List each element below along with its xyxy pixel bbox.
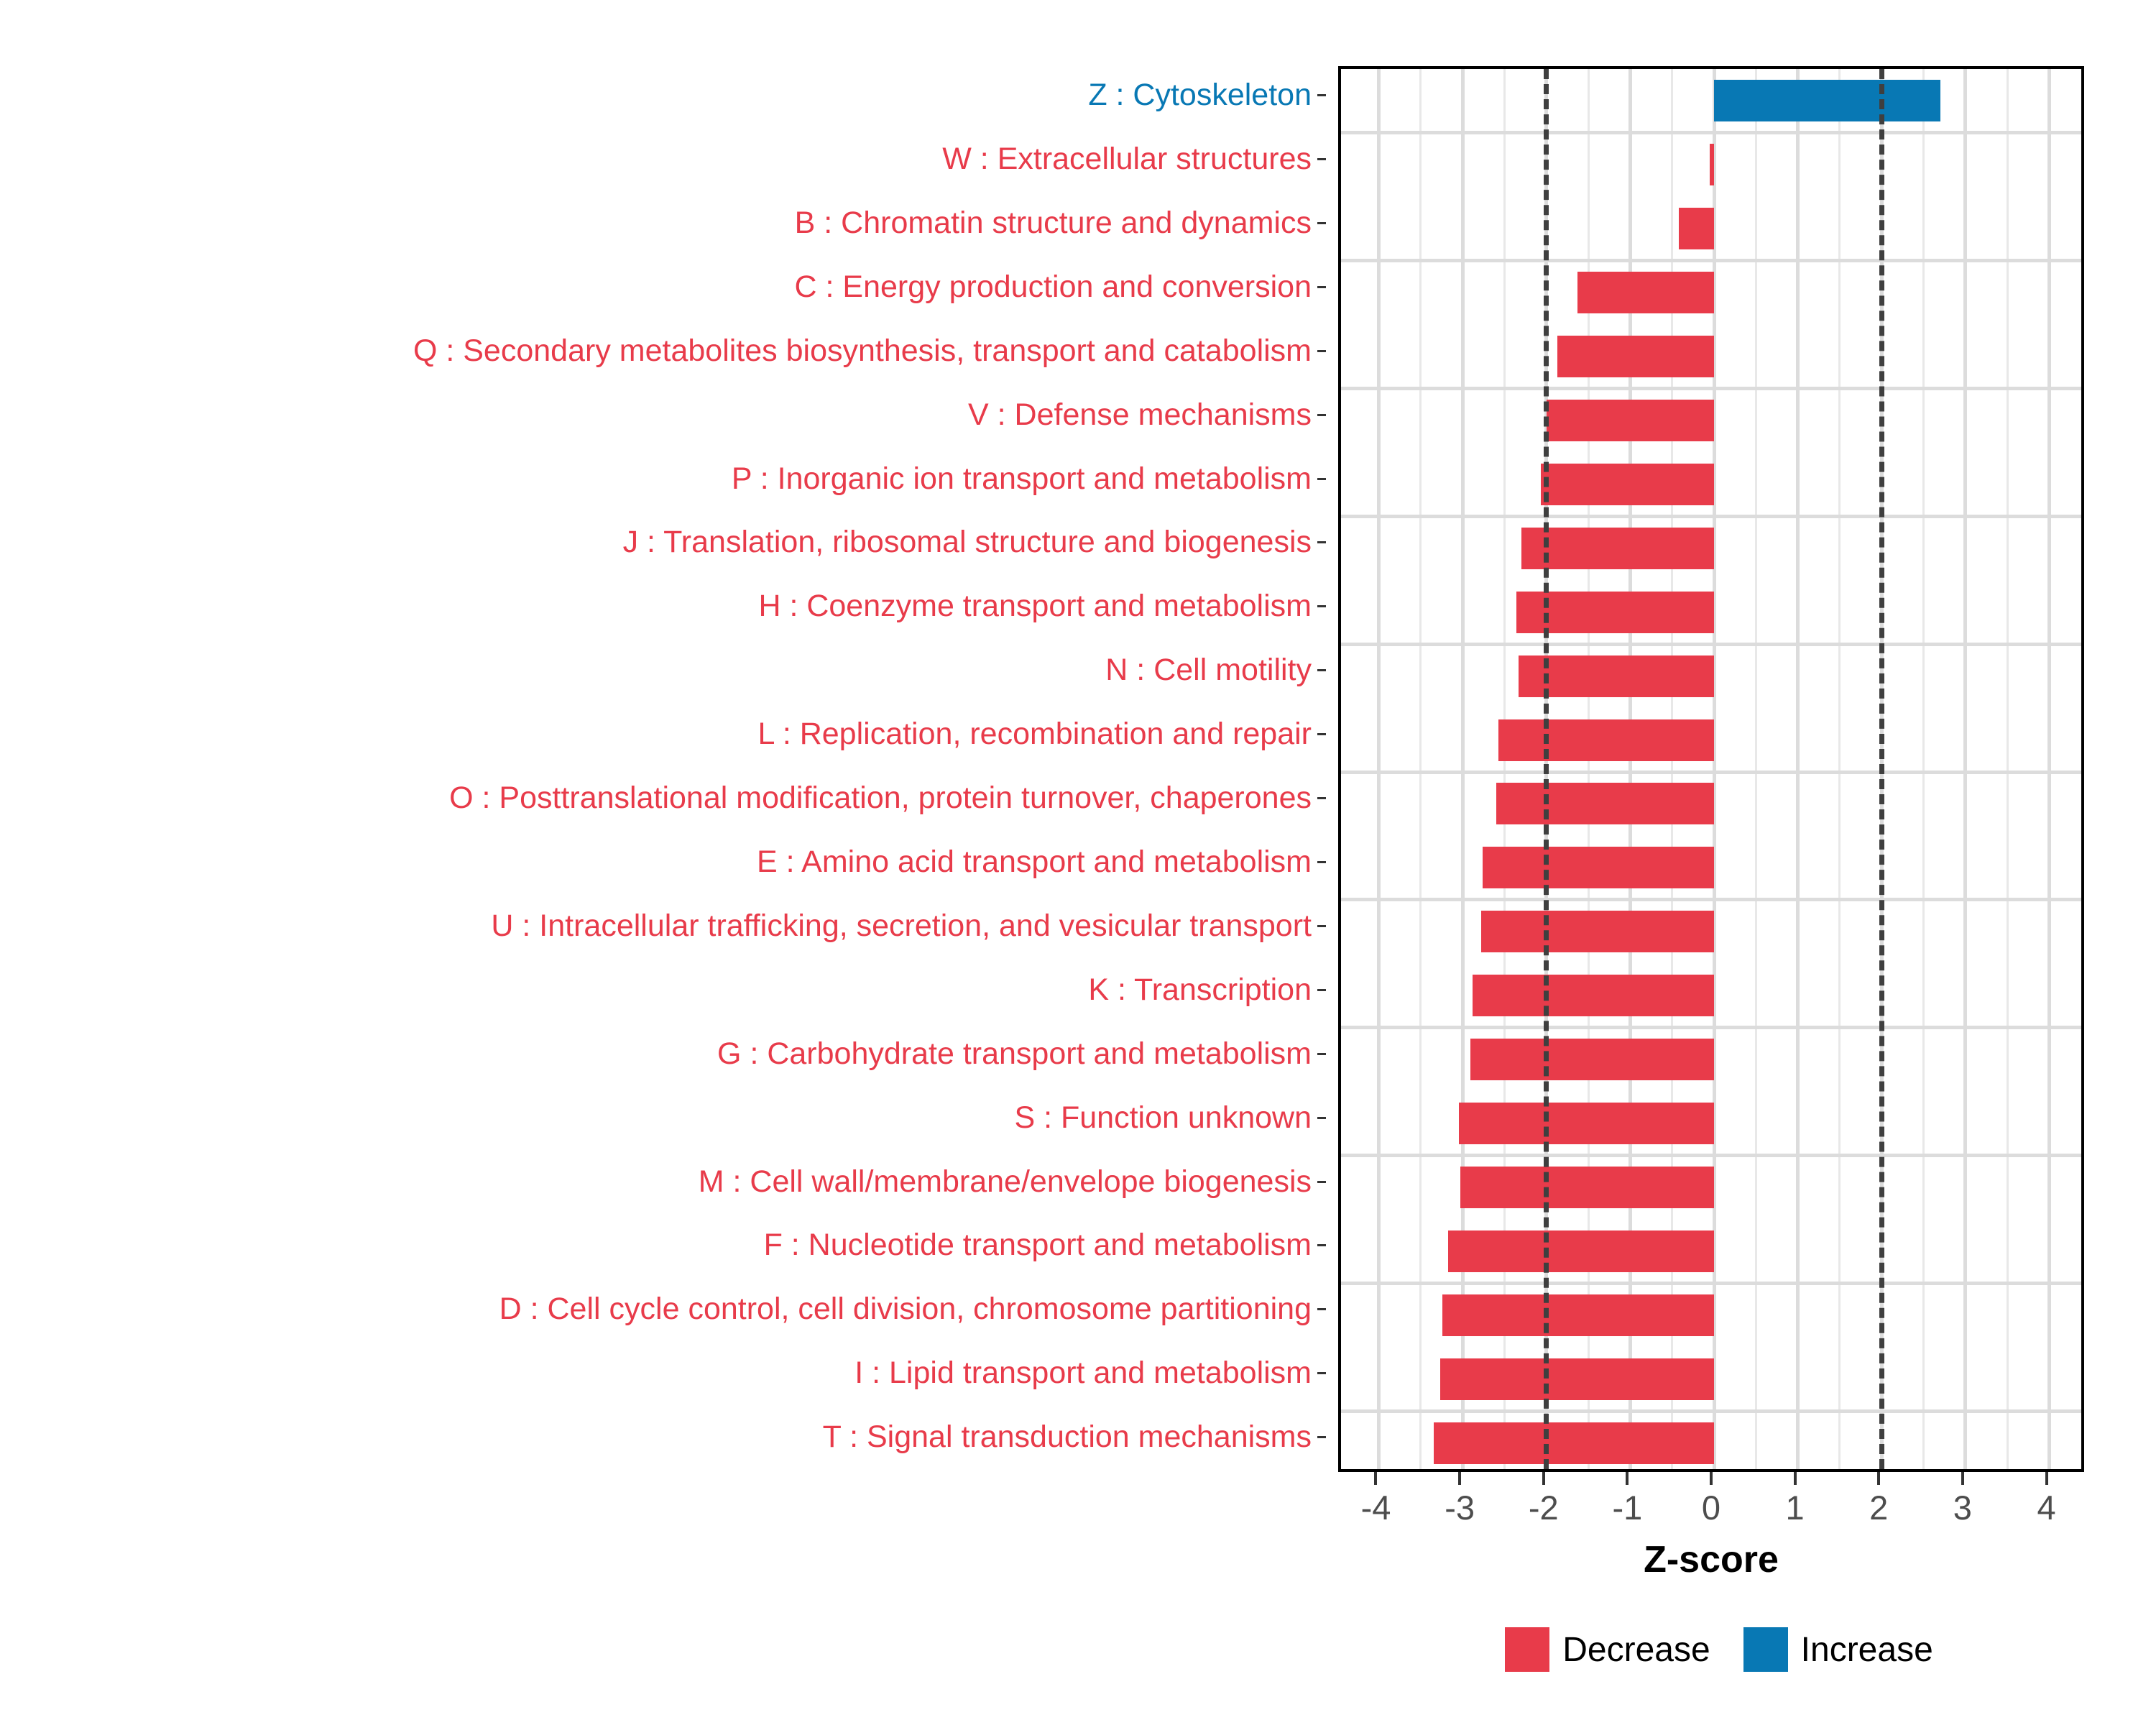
bar <box>1557 336 1714 377</box>
chart-root: Z : CytoskeletonW : Extracellular struct… <box>0 0 2156 1725</box>
y-axis-tick-mark <box>1317 94 1326 96</box>
bar <box>1460 1167 1714 1208</box>
legend-item[interactable]: Increase <box>1743 1627 1933 1672</box>
gridline-minor <box>1838 69 1841 1469</box>
y-axis-tick-label: Z : Cytoskeleton <box>1088 63 1326 127</box>
bar <box>1496 783 1714 824</box>
y-axis-category-labels: Z : CytoskeletonW : Extracellular struct… <box>0 63 1326 1472</box>
y-axis-tick-mark <box>1317 478 1326 480</box>
y-axis-tick-label: I : Lipid transport and metabolism <box>854 1341 1326 1405</box>
y-axis-tick-label-text: T : Signal transduction mechanisms <box>823 1422 1312 1453</box>
gridline-horizontal <box>1341 770 2081 774</box>
x-axis-tick-mark <box>1877 1472 1880 1485</box>
bar <box>1679 208 1714 249</box>
y-axis-tick-label-text: S : Function unknown <box>1014 1103 1312 1133</box>
y-axis-tick-mark <box>1317 541 1326 543</box>
y-axis-tick-label-text: D : Cell cycle control, cell division, c… <box>499 1294 1312 1325</box>
legend-color-swatch <box>1505 1627 1549 1672</box>
y-axis-tick-label-text: Z : Cytoskeleton <box>1088 80 1312 111</box>
y-axis-tick-label: V : Defense mechanisms <box>968 383 1326 447</box>
y-axis-tick-label: G : Carbohydrate transport and metabolis… <box>717 1022 1326 1086</box>
y-axis-tick-label: Q : Secondary metabolites biosynthesis, … <box>413 319 1326 383</box>
bar <box>1714 80 1940 121</box>
y-axis-tick-label-text: F : Nucleotide transport and metabolism <box>764 1230 1312 1261</box>
gridline-minor <box>2007 69 2009 1469</box>
reference-line <box>1544 69 1549 1469</box>
x-axis-tick-mark <box>1961 1472 1964 1485</box>
y-axis-tick-mark <box>1317 669 1326 671</box>
y-axis-tick-label: E : Amino acid transport and metabolism <box>757 830 1326 894</box>
gridline-horizontal <box>1341 1409 2081 1413</box>
x-axis-tick-label: -3 <box>1445 1488 1475 1527</box>
bar <box>1434 1422 1714 1464</box>
y-axis-tick-label: M : Cell wall/membrane/envelope biogenes… <box>699 1149 1326 1213</box>
gridline-horizontal <box>1341 643 2081 646</box>
y-axis-tick-mark <box>1317 1117 1326 1119</box>
reference-line <box>1879 69 1884 1469</box>
y-axis-tick-mark <box>1317 1181 1326 1183</box>
x-axis-tick-mark <box>1626 1472 1628 1485</box>
y-axis-tick-mark <box>1317 1436 1326 1438</box>
y-axis-tick-label-text: N : Cell motility <box>1105 655 1312 686</box>
bar <box>1498 719 1714 761</box>
x-axis-tick-mark <box>2045 1472 2048 1485</box>
gridline-horizontal <box>1341 387 2081 390</box>
y-axis-tick-label: N : Cell motility <box>1105 638 1326 702</box>
legend-label: Increase <box>1801 1630 1933 1670</box>
x-axis-tick-mark <box>1542 1472 1545 1485</box>
y-axis-tick-label: T : Signal transduction mechanisms <box>823 1405 1326 1469</box>
bar <box>1459 1103 1714 1144</box>
y-axis-tick-label-text: P : Inorganic ion transport and metaboli… <box>732 464 1312 494</box>
bar <box>1541 464 1714 505</box>
gridline-horizontal <box>1341 1154 2081 1157</box>
y-axis-tick-label-text: U : Intracellular trafficking, secretion… <box>491 911 1312 942</box>
gridline-horizontal <box>1341 898 2081 901</box>
y-axis-tick-label-text: B : Chromatin structure and dynamics <box>795 208 1312 239</box>
y-axis-tick-label-text: I : Lipid transport and metabolism <box>854 1358 1312 1389</box>
gridline-horizontal <box>1341 515 2081 518</box>
x-axis-tick-label: 3 <box>1953 1488 1972 1527</box>
y-axis-tick-label-text: E : Amino acid transport and metabolism <box>757 847 1312 878</box>
y-axis-tick-label-text: H : Coenzyme transport and metabolism <box>758 591 1312 622</box>
y-axis-tick-mark <box>1317 286 1326 288</box>
y-axis-tick-mark <box>1317 414 1326 416</box>
y-axis-tick-label-text: W : Extracellular structures <box>942 144 1312 175</box>
gridline-horizontal <box>1341 131 2081 134</box>
gridline-minor <box>1419 69 1422 1469</box>
y-axis-tick-label: D : Cell cycle control, cell division, c… <box>499 1277 1326 1341</box>
y-axis-tick-label: K : Transcription <box>1088 958 1326 1022</box>
y-axis-tick-mark <box>1317 222 1326 224</box>
y-axis-tick-label: U : Intracellular trafficking, secretion… <box>491 894 1326 958</box>
y-axis-tick-mark <box>1317 989 1326 991</box>
x-axis-tick-label: -4 <box>1361 1488 1391 1527</box>
y-axis-tick-label: S : Function unknown <box>1014 1086 1326 1150</box>
y-axis-tick-label: W : Extracellular structures <box>942 127 1326 191</box>
x-axis-tick-label: 4 <box>2037 1488 2055 1527</box>
y-axis-tick-label-text: C : Energy production and conversion <box>795 272 1312 303</box>
bar <box>1547 400 1714 441</box>
legend-label: Decrease <box>1562 1630 1710 1670</box>
bar <box>1521 528 1714 569</box>
gridline-major <box>1963 69 1967 1469</box>
y-axis-tick-label: H : Coenzyme transport and metabolism <box>758 574 1326 638</box>
x-axis-tick-label: 1 <box>1786 1488 1805 1527</box>
y-axis-tick-label-text: K : Transcription <box>1088 975 1312 1006</box>
y-axis-tick-label-text: L : Replication, recombination and repai… <box>758 719 1312 750</box>
x-axis-tick-label: 2 <box>1869 1488 1888 1527</box>
x-axis-tick-label: 0 <box>1702 1488 1720 1527</box>
bar <box>1577 272 1714 313</box>
y-axis-tick-label: L : Replication, recombination and repai… <box>758 702 1326 766</box>
gridline-major <box>2047 69 2051 1469</box>
y-axis-tick-mark <box>1317 733 1326 735</box>
x-axis-tick-mark <box>1458 1472 1461 1485</box>
gridline-major <box>1796 69 1800 1469</box>
y-axis-tick-label-text: V : Defense mechanisms <box>968 400 1312 431</box>
gridline-major <box>1377 69 1381 1469</box>
y-axis-tick-mark <box>1317 1372 1326 1374</box>
plot-panel <box>1338 66 2084 1472</box>
bar <box>1473 975 1714 1016</box>
y-axis-tick-mark <box>1317 925 1326 927</box>
gridline-horizontal <box>1341 1026 2081 1029</box>
y-axis-tick-mark <box>1317 1053 1326 1055</box>
y-axis-tick-label: F : Nucleotide transport and metabolism <box>764 1213 1326 1277</box>
x-axis-tick-label: -1 <box>1612 1488 1642 1527</box>
gridline-horizontal <box>1341 1282 2081 1285</box>
y-axis-tick-label-text: M : Cell wall/membrane/envelope biogenes… <box>699 1167 1312 1197</box>
legend-color-swatch <box>1743 1627 1788 1672</box>
x-axis-tick-mark <box>1710 1472 1713 1485</box>
bar <box>1483 847 1714 888</box>
bar <box>1470 1039 1714 1080</box>
y-axis-tick-mark <box>1317 797 1326 799</box>
gridline-minor <box>1755 69 1757 1469</box>
x-axis-title: Z-score <box>1338 1538 2084 1581</box>
y-axis-tick-mark <box>1317 350 1326 352</box>
y-axis-tick-label-text: G : Carbohydrate transport and metabolis… <box>717 1039 1312 1069</box>
chart-legend: DecreaseIncrease <box>1338 1617 2100 1682</box>
x-axis-tick-mark <box>1374 1472 1377 1485</box>
y-axis-tick-mark <box>1317 158 1326 160</box>
y-axis-tick-label: B : Chromatin structure and dynamics <box>795 191 1326 255</box>
y-axis-tick-label-text: O : Posttranslational modification, prot… <box>449 783 1312 814</box>
y-axis-tick-label: P : Inorganic ion transport and metaboli… <box>732 446 1326 510</box>
y-axis-tick-label-text: J : Translation, ribosomal structure and… <box>623 527 1312 558</box>
y-axis-tick-label-text: Q : Secondary metabolites biosynthesis, … <box>413 336 1312 367</box>
x-axis-tick-label: -2 <box>1529 1488 1559 1527</box>
gridline-minor <box>1922 69 1925 1469</box>
y-axis-tick-mark <box>1317 1308 1326 1310</box>
y-axis-tick-label: C : Energy production and conversion <box>795 255 1326 319</box>
y-axis-tick-mark <box>1317 861 1326 863</box>
y-axis-tick-label: O : Posttranslational modification, prot… <box>449 766 1326 830</box>
bar <box>1448 1230 1714 1272</box>
y-axis-tick-label: J : Translation, ribosomal structure and… <box>623 510 1326 574</box>
bar <box>1440 1358 1714 1400</box>
legend-item[interactable]: Decrease <box>1505 1627 1710 1672</box>
x-axis-tick-mark <box>1794 1472 1797 1485</box>
y-axis-tick-mark <box>1317 1244 1326 1246</box>
y-axis-tick-mark <box>1317 605 1326 607</box>
bar <box>1442 1294 1714 1336</box>
gridline-horizontal <box>1341 259 2081 262</box>
bar <box>1710 144 1714 185</box>
bar <box>1481 911 1714 952</box>
